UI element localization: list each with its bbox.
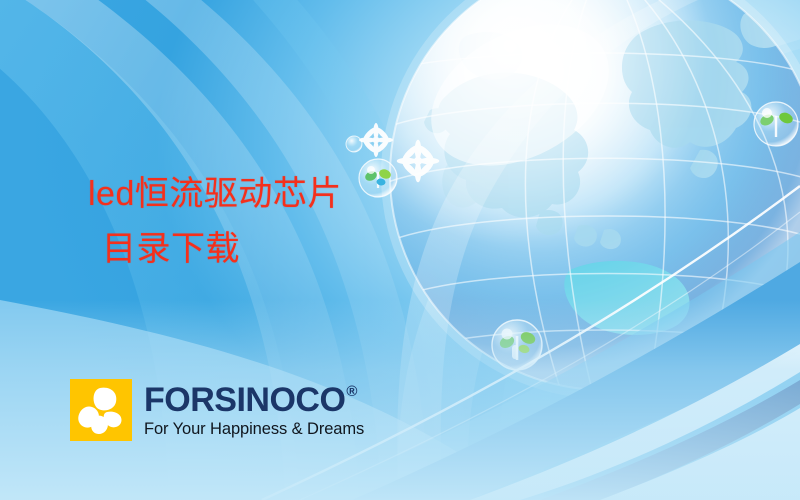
headline-text: led恒流驱动芯片 目录下载	[88, 166, 342, 278]
headline-line-1: led恒流驱动芯片	[88, 166, 342, 222]
logo-text-block: FORSINOCO ® For Your Happiness & Dreams	[144, 383, 364, 438]
bubble-icon-1	[346, 136, 362, 152]
headline-line-2: 目录下载	[102, 222, 342, 278]
logo-tagline: For Your Happiness & Dreams	[144, 421, 364, 438]
logo-brand-name: FORSINOCO ®	[144, 383, 364, 417]
four-petal-flower-icon	[70, 379, 132, 441]
banner-canvas: led恒流驱动芯片 目录下载 FORSINOCO ® For Your Happ…	[0, 0, 800, 500]
registered-trademark-icon: ®	[346, 384, 357, 399]
company-logo[interactable]: FORSINOCO ® For Your Happiness & Dreams	[70, 379, 364, 441]
bubble-icon-4	[754, 102, 798, 146]
logo-mark	[70, 379, 132, 441]
logo-brand-word: FORSINOCO	[144, 383, 345, 417]
bubble-icon-2	[359, 159, 397, 197]
